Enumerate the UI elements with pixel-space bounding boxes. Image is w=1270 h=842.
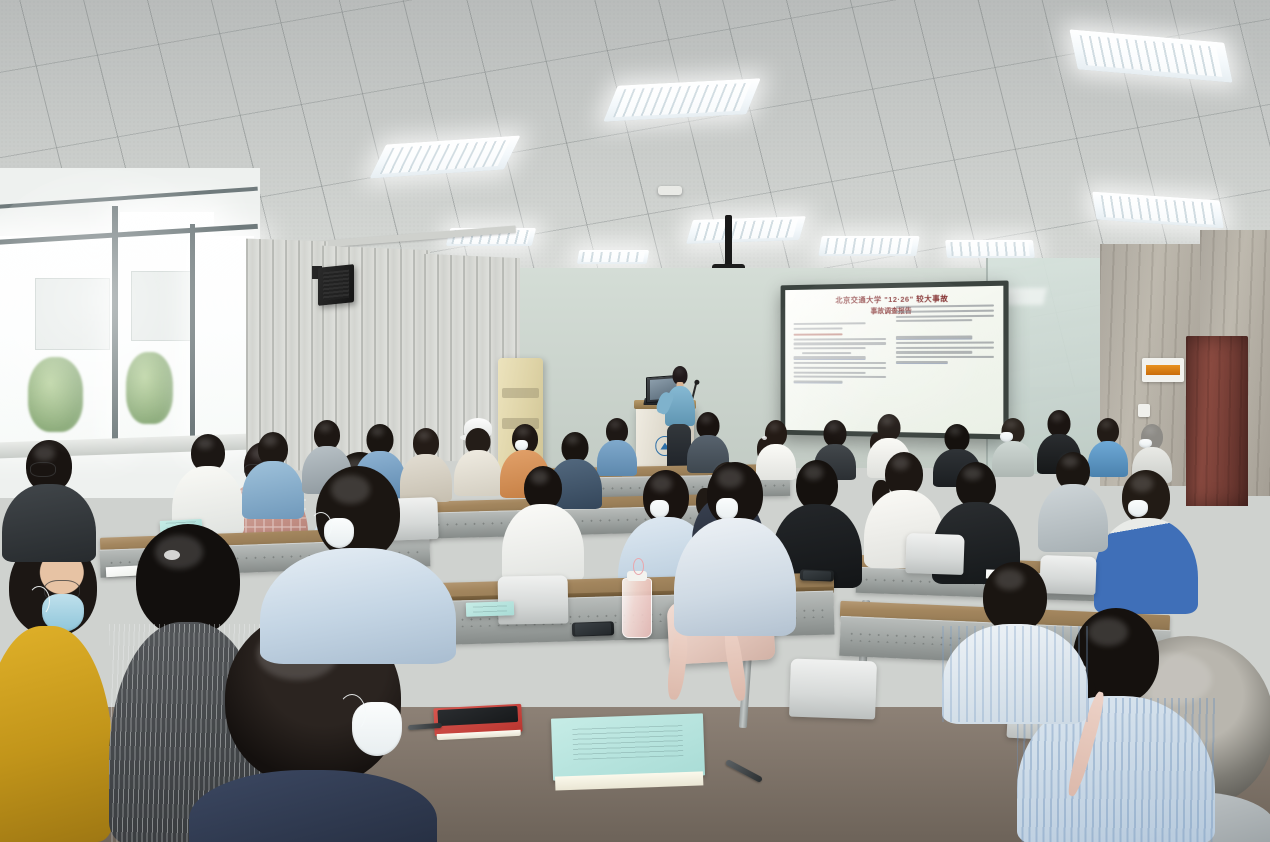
- face-mask: [1128, 500, 1148, 517]
- head: [1122, 470, 1170, 524]
- chair-back: [498, 575, 569, 624]
- torso: [674, 518, 796, 636]
- head: [1048, 410, 1071, 437]
- torso: [189, 770, 437, 842]
- exterior-tree: [28, 357, 83, 432]
- attendee-dark-foreground-far-left: [0, 440, 98, 558]
- exterior-building: [35, 278, 110, 351]
- light-switch: [1138, 404, 1150, 417]
- classroom-scene: 北京交通大学 "12·26" 较大事故 事故调查报告: [0, 0, 1270, 842]
- mask-ear-loop: [28, 586, 50, 616]
- head: [316, 466, 400, 560]
- mask-ear-loop: [310, 512, 332, 540]
- torso: [1038, 484, 1108, 552]
- presentation-slide: 北京交通大学 "12·26" 较大事故 事故调查报告: [785, 286, 1003, 434]
- bottle-carry-loop: [633, 558, 645, 575]
- wall-speaker: [318, 264, 354, 306]
- attendee-white-foreground-center: [672, 462, 798, 632]
- window-mullion: [112, 206, 118, 446]
- ceiling-panel-light: [686, 216, 806, 244]
- torso: [260, 548, 456, 664]
- mint-document-booklet[interactable]: [551, 713, 705, 780]
- chair-back: [789, 659, 877, 720]
- torso: [0, 626, 113, 842]
- exterior-tree: [126, 352, 173, 424]
- stripe-pattern: [942, 626, 1088, 722]
- red-notebook[interactable]: [433, 704, 522, 737]
- face-mask: [650, 500, 669, 518]
- face-mask: [716, 498, 738, 520]
- mask-ear-loop: [338, 694, 366, 732]
- sign-accent-bar: [1146, 365, 1180, 375]
- attendee-white-cap: [452, 420, 504, 492]
- slide-right-column: [896, 321, 994, 389]
- torso: [502, 504, 584, 582]
- mint-handout-left[interactable]: [466, 601, 514, 617]
- head: [983, 562, 1047, 632]
- attendee-lightblue-foreground-left: [258, 466, 458, 656]
- attendee-yellow-shirt-foreground: [0, 538, 124, 842]
- ceiling-panel-light: [818, 236, 920, 256]
- head: [824, 420, 847, 447]
- exterior-building: [131, 271, 195, 341]
- attendee-white-shirt-row3: [500, 466, 586, 576]
- ceiling-panel-light: [577, 250, 649, 264]
- wall-sign-plate: [1142, 358, 1184, 382]
- window-mullion: [190, 224, 195, 450]
- torso: [2, 484, 96, 562]
- slide-left-column: [794, 322, 887, 388]
- ac-vent: [502, 388, 540, 398]
- projection-screen: 北京交通大学 "12·26" 较大事故 事故调查报告: [785, 286, 1003, 434]
- eyeglasses: [30, 462, 56, 477]
- hair-tie: [762, 436, 767, 440]
- head: [796, 460, 838, 510]
- hair-clip: [164, 550, 180, 560]
- ceiling-panel-light: [945, 240, 1035, 258]
- head: [945, 424, 970, 452]
- window-left: [0, 236, 116, 444]
- projector-mount-pole: [725, 215, 732, 267]
- attendee-grey-right: [1036, 452, 1110, 548]
- smoke-detector: [658, 186, 682, 195]
- slide-title-line2: 事故调查报告: [794, 305, 994, 318]
- water-bottle[interactable]: [622, 578, 652, 638]
- backpack-strap: [665, 629, 689, 700]
- smartphone-far[interactable]: [800, 569, 834, 581]
- attendee-white-shirt-foreground-right: [940, 566, 1090, 716]
- torso: [454, 450, 502, 496]
- smartphone[interactable]: [572, 621, 614, 636]
- slide-title-line1: 北京交通大学 "12·26" 较大事故: [794, 292, 994, 307]
